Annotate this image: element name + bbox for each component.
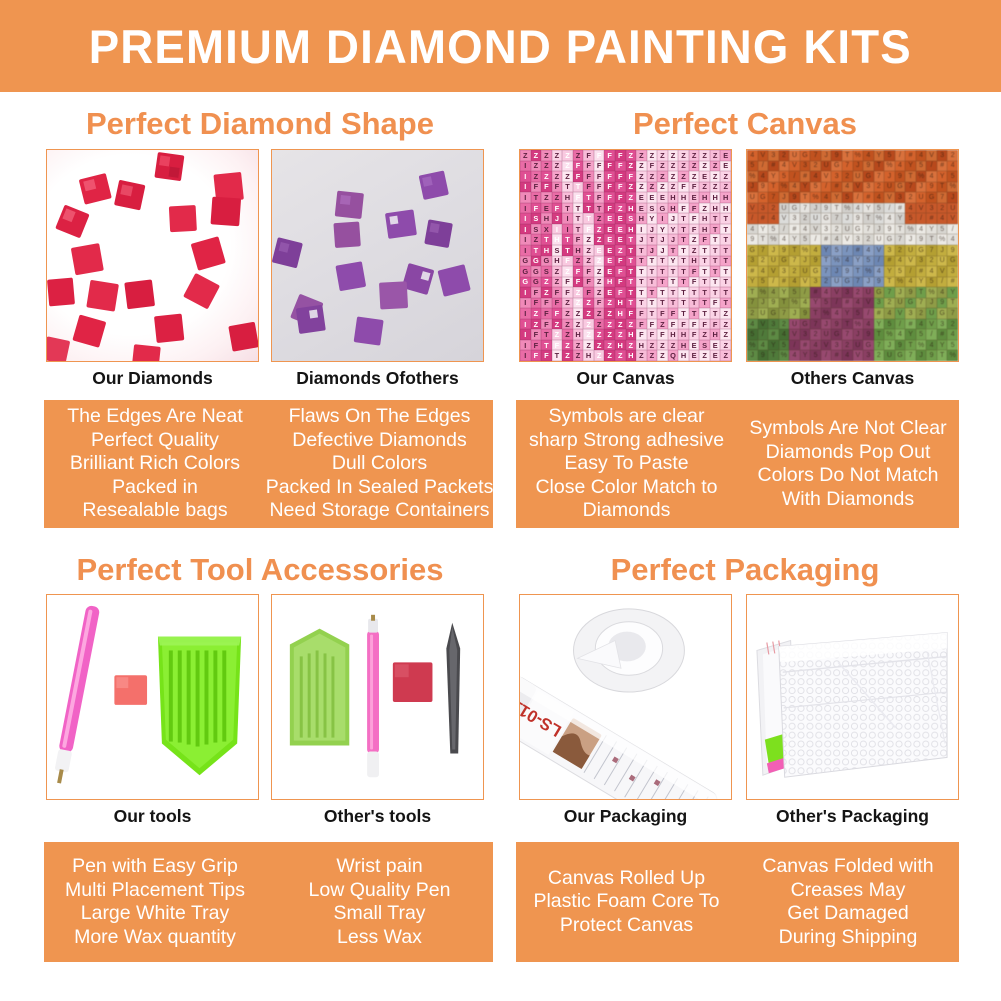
feature-line: Diamonds Pop Out <box>766 441 931 465</box>
feature-line: Canvas Rolled Up <box>548 867 705 891</box>
feature-line: Symbols Are Not Clear <box>749 417 946 441</box>
feature-line: Pen with Easy Grip <box>72 855 238 879</box>
photo-our-tools <box>46 594 259 800</box>
feature-line: Flaws On The Edges <box>289 405 471 429</box>
feature-line: Defective Diamonds <box>292 429 467 453</box>
feature-line: Small Tray <box>333 902 425 926</box>
feature-line: Close Color Match to <box>535 476 717 500</box>
feature-line: Perfect Quality <box>91 429 219 453</box>
feature-line: Canvas Folded with <box>762 855 933 879</box>
section-title-diamond-shape: Perfect Diamond Shape <box>20 106 500 142</box>
feature-line: Dull Colors <box>332 452 427 476</box>
photo-our-packaging: LS-011 <box>519 594 732 800</box>
feature-line: Get Damaged <box>787 902 908 926</box>
feature-line: Brilliant Rich Colors <box>70 452 240 476</box>
caption-other-tools: Other's tools <box>271 806 484 827</box>
feature-line: With Diamonds <box>782 488 914 512</box>
feature-line: Protect Canvas <box>560 914 693 938</box>
canvas-symbol-grid: ZZZZZZFFFFZZZZZZZZZEIZZZZFFFFFZZFZZZZZZE… <box>520 150 731 361</box>
photo-our-diamonds <box>46 149 259 362</box>
header-banner: PREMIUM DIAMOND PAINTING KITS <box>0 0 1001 92</box>
photo-our-canvas: ZZZZZZFFFFZZZZZZZZZEIZZZZFFFFFZZFZZZZZZE… <box>519 149 732 362</box>
feature-line: Need Storage Containers <box>269 499 489 523</box>
section-title-packaging: Perfect Packaging <box>505 552 985 588</box>
section-title-canvas: Perfect Canvas <box>505 106 985 142</box>
canvas-blurry-grid: 4V32UG7J9T%4Y5/#4V325/#4V32UG7J9T%4Y5/#4… <box>747 150 958 361</box>
features-other-canvas: Symbols Are Not Clear Diamonds Pop Out C… <box>737 400 959 528</box>
feature-line: Less Wax <box>337 926 422 950</box>
feature-line: Multi Placement Tips <box>65 879 245 903</box>
feature-line: More Wax quantity <box>74 926 236 950</box>
photo-other-packaging <box>746 594 959 800</box>
photo-other-diamonds <box>271 149 484 362</box>
feature-line: Symbols are clear <box>548 405 704 429</box>
feature-line: Low Quality Pen <box>309 879 451 903</box>
feature-line: The Edges Are Neat <box>67 405 243 429</box>
features-our-packaging: Canvas Rolled Up Plastic Foam Core To Pr… <box>516 842 737 962</box>
photo-other-tools <box>271 594 484 800</box>
photo-other-canvas: 4V32UG7J9T%4Y5/#4V325/#4V32UG7J9T%4Y5/#4… <box>746 149 959 362</box>
features-other-packaging: Canvas Folded with Creases May Get Damag… <box>737 842 959 962</box>
page-title: PREMIUM DIAMOND PAINTING KITS <box>89 19 912 74</box>
caption-our-packaging: Our Packaging <box>519 806 732 827</box>
feature-line: sharp Strong adhesive <box>529 429 724 453</box>
section-title-tool-accessories: Perfect Tool Accessories <box>20 552 500 588</box>
feature-line: Large White Tray <box>81 902 229 926</box>
feature-line: Creases May <box>791 879 906 903</box>
feature-line: Diamonds <box>583 499 671 523</box>
caption-other-diamonds: Diamonds Ofothers <box>271 368 484 389</box>
feature-line: Resealable bags <box>82 499 227 523</box>
feature-line: Packed In Sealed Packets <box>266 476 494 500</box>
feature-line: During Shipping <box>779 926 918 950</box>
caption-our-tools: Our tools <box>46 806 259 827</box>
feature-line: Easy To Paste <box>564 452 688 476</box>
feature-line: Wrist pain <box>336 855 422 879</box>
caption-other-packaging: Other's Packaging <box>746 806 959 827</box>
features-other-diamonds: Flaws On The Edges Defective Diamonds Du… <box>266 400 493 528</box>
caption-other-canvas: Others Canvas <box>746 368 959 389</box>
features-our-canvas: Symbols are clear sharp Strong adhesive … <box>516 400 737 528</box>
feature-line: Plastic Foam Core To <box>533 890 719 914</box>
features-our-diamonds: The Edges Are Neat Perfect Quality Brill… <box>44 400 266 528</box>
feature-line: Colors Do Not Match <box>758 464 939 488</box>
features-our-tools: Pen with Easy Grip Multi Placement Tips … <box>44 842 266 962</box>
feature-line: Packed in <box>112 476 198 500</box>
caption-our-canvas: Our Canvas <box>519 368 732 389</box>
caption-our-diamonds: Our Diamonds <box>46 368 259 389</box>
features-other-tools: Wrist pain Low Quality Pen Small Tray Le… <box>266 842 493 962</box>
